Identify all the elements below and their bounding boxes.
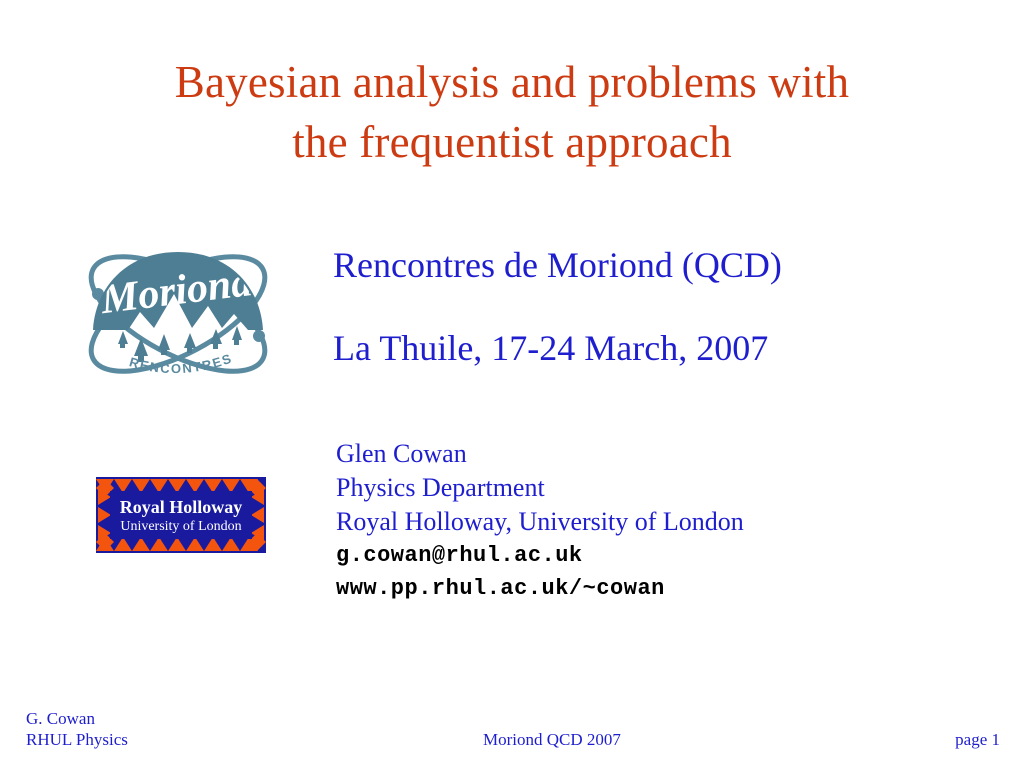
- title-line-2: the frequentist approach: [0, 112, 1024, 172]
- footer-page-number: page 1: [955, 729, 1000, 750]
- slide-footer: G. Cowan RHUL Physics Moriond QCD 2007 p…: [0, 698, 1024, 768]
- author-website[interactable]: www.pp.rhul.ac.uk/~cowan: [336, 572, 956, 605]
- author-block: Glen Cowan Physics Department Royal Holl…: [336, 437, 956, 605]
- author-department: Physics Department: [336, 471, 956, 505]
- page-title: Bayesian analysis and problems with the …: [0, 52, 1024, 172]
- title-line-1: Bayesian analysis and problems with: [0, 52, 1024, 112]
- author-name: Glen Cowan: [336, 437, 956, 471]
- conference-venue: La Thuile, 17-24 March, 2007: [333, 327, 993, 370]
- author-email[interactable]: g.cowan@rhul.ac.uk: [336, 539, 956, 572]
- footer-affiliation: RHUL Physics: [26, 729, 128, 750]
- conference-block: Rencontres de Moriond (QCD) La Thuile, 1…: [333, 244, 993, 370]
- conference-name: Rencontres de Moriond (QCD): [333, 244, 993, 287]
- footer-conference: Moriond QCD 2007: [483, 729, 621, 750]
- rhul-logo-line-2: University of London: [120, 519, 241, 534]
- footer-left: G. Cowan RHUL Physics: [26, 708, 128, 750]
- author-institution: Royal Holloway, University of London: [336, 505, 956, 539]
- royal-holloway-logo: Royal Holloway University of London: [96, 477, 266, 553]
- footer-author: G. Cowan: [26, 708, 128, 729]
- rhul-logo-line-1: Royal Holloway: [120, 497, 243, 517]
- moriond-rencontres-logo: Moriond RENCONTRES: [62, 232, 294, 394]
